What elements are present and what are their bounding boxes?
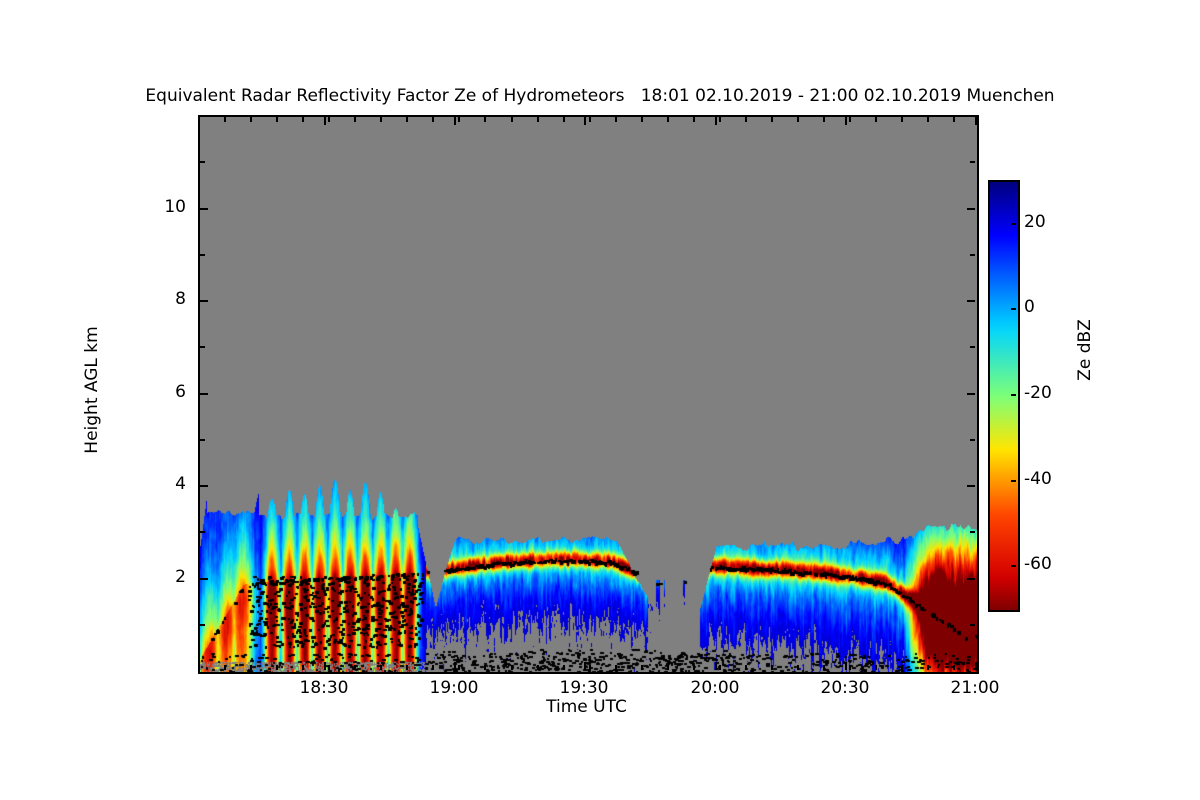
- x-axis-minor-tick-top: [198, 117, 200, 122]
- y-axis-tick-right: [967, 300, 975, 302]
- y-axis-minor-tick-right: [970, 346, 975, 348]
- y-axis-tick-right: [967, 208, 975, 210]
- x-axis-minor-tick-top: [589, 117, 591, 122]
- x-axis-tick-label: 21:00: [930, 680, 1020, 697]
- x-axis-minor-tick: [198, 665, 200, 670]
- y-axis-tick-label: 4: [146, 476, 186, 493]
- colorbar-gradient: [990, 182, 1018, 610]
- x-axis-tick-top: [845, 117, 847, 125]
- x-axis-tick: [715, 662, 717, 670]
- colorbar-label: Ze dBZ: [1075, 260, 1095, 440]
- x-axis-minor-tick-top: [797, 117, 799, 122]
- x-axis-minor-tick-top: [406, 117, 408, 122]
- x-axis-minor-tick-top: [380, 117, 382, 122]
- x-axis-minor-tick: [537, 665, 539, 670]
- x-axis-tick: [584, 662, 586, 670]
- x-axis-minor-tick-top: [458, 117, 460, 122]
- y-axis-tick-right: [967, 485, 975, 487]
- y-axis-tick-label: 6: [146, 384, 186, 401]
- x-axis-minor-tick-top: [927, 117, 929, 122]
- x-axis-tick: [454, 662, 456, 670]
- x-axis-minor-tick: [432, 665, 434, 670]
- colorbar-tick: [1011, 480, 1016, 482]
- x-axis-minor-tick: [771, 665, 773, 670]
- x-axis-tick-top: [584, 117, 586, 125]
- x-axis-minor-tick: [823, 665, 825, 670]
- x-axis-minor-tick: [693, 665, 695, 670]
- x-axis-minor-tick-top: [563, 117, 565, 122]
- colorbar-tick: [1011, 394, 1016, 396]
- x-axis-tick-label: 20:30: [800, 680, 890, 697]
- x-axis-minor-tick-top: [354, 117, 356, 122]
- y-axis-minor-tick: [200, 439, 205, 441]
- y-axis-minor-tick-right: [970, 531, 975, 533]
- x-axis-minor-tick: [901, 665, 903, 670]
- colorbar-tick-label: -60: [1024, 556, 1052, 573]
- colorbar-tick-label: 20: [1024, 214, 1046, 231]
- y-axis-minor-tick: [200, 624, 205, 626]
- x-axis-minor-tick: [875, 665, 877, 670]
- x-axis-tick-top: [324, 117, 326, 125]
- x-axis-minor-tick-top: [823, 117, 825, 122]
- colorbar-tick-label: 0: [1024, 299, 1035, 316]
- x-axis-minor-tick-top: [693, 117, 695, 122]
- x-axis-minor-tick: [719, 665, 721, 670]
- y-axis-tick: [200, 208, 208, 210]
- y-axis-minor-tick-right: [970, 161, 975, 163]
- x-axis-minor-tick-top: [641, 117, 643, 122]
- x-axis-minor-tick: [797, 665, 799, 670]
- x-axis-minor-tick: [328, 665, 330, 670]
- colorbar-tick-label: -20: [1024, 385, 1052, 402]
- x-axis-minor-tick: [563, 665, 565, 670]
- x-axis-tick-label: 19:30: [539, 680, 629, 697]
- x-axis-tick: [324, 662, 326, 670]
- y-axis-tick-label: 8: [146, 291, 186, 308]
- colorbar-tick: [1011, 223, 1016, 225]
- x-axis-minor-tick: [927, 665, 929, 670]
- x-axis-minor-tick-top: [484, 117, 486, 122]
- x-axis-minor-tick: [667, 665, 669, 670]
- x-axis-minor-tick-top: [771, 117, 773, 122]
- x-axis-minor-tick: [354, 665, 356, 670]
- x-axis-minor-tick-top: [276, 117, 278, 122]
- y-axis-tick-right: [967, 393, 975, 395]
- y-axis-minor-tick: [200, 161, 205, 163]
- y-axis-tick-label: 2: [146, 569, 186, 586]
- y-axis-minor-tick-right: [970, 624, 975, 626]
- page-title: Equivalent Radar Reflectivity Factor Ze …: [0, 86, 1200, 106]
- x-axis-minor-tick: [641, 665, 643, 670]
- reflectivity-heatmap-canvas: [200, 117, 977, 672]
- x-axis-minor-tick-top: [328, 117, 330, 122]
- x-axis-tick-label: 19:00: [409, 680, 499, 697]
- colorbar-tick: [1011, 308, 1016, 310]
- x-axis-tick: [975, 662, 977, 670]
- x-axis-tick-label: 20:00: [670, 680, 760, 697]
- x-axis-label: Time UTC: [198, 697, 975, 717]
- x-axis-minor-tick: [511, 665, 513, 670]
- y-axis-tick: [200, 300, 208, 302]
- x-axis-tick: [845, 662, 847, 670]
- x-axis-minor-tick: [302, 665, 304, 670]
- x-axis-minor-tick: [380, 665, 382, 670]
- x-axis-minor-tick-top: [250, 117, 252, 122]
- x-axis-minor-tick-top: [537, 117, 539, 122]
- x-axis-tick-top: [715, 117, 717, 125]
- y-axis-minor-tick: [200, 531, 205, 533]
- x-axis-minor-tick-top: [875, 117, 877, 122]
- x-axis-minor-tick: [250, 665, 252, 670]
- x-axis-minor-tick-top: [511, 117, 513, 122]
- x-axis-minor-tick-top: [432, 117, 434, 122]
- colorbar-tick: [1011, 565, 1016, 567]
- x-axis-minor-tick: [458, 665, 460, 670]
- x-axis-minor-tick: [745, 665, 747, 670]
- x-axis-minor-tick: [276, 665, 278, 670]
- x-axis-minor-tick-top: [719, 117, 721, 122]
- x-axis-minor-tick: [615, 665, 617, 670]
- x-axis-minor-tick: [406, 665, 408, 670]
- x-axis-minor-tick: [224, 665, 226, 670]
- x-axis-tick-top: [454, 117, 456, 125]
- x-axis-tick-label: 18:30: [279, 680, 369, 697]
- x-axis-minor-tick: [849, 665, 851, 670]
- x-axis-minor-tick-top: [953, 117, 955, 122]
- x-axis-minor-tick: [589, 665, 591, 670]
- x-axis-minor-tick-top: [745, 117, 747, 122]
- x-axis-tick-top: [975, 117, 977, 125]
- y-axis-tick-right: [967, 578, 975, 580]
- y-axis-tick: [200, 485, 208, 487]
- y-axis-label: Height AGL km: [82, 290, 102, 490]
- colorbar-tick-label: -40: [1024, 471, 1052, 488]
- y-axis-minor-tick: [200, 346, 205, 348]
- colorbar: [988, 180, 1020, 612]
- plot-area: [198, 115, 979, 674]
- x-axis-minor-tick: [484, 665, 486, 670]
- y-axis-minor-tick: [200, 254, 205, 256]
- y-axis-tick-label: 10: [146, 199, 186, 216]
- x-axis-minor-tick-top: [849, 117, 851, 122]
- x-axis-minor-tick-top: [615, 117, 617, 122]
- y-axis-minor-tick-right: [970, 254, 975, 256]
- x-axis-minor-tick-top: [667, 117, 669, 122]
- x-axis-minor-tick-top: [901, 117, 903, 122]
- y-axis-tick: [200, 578, 208, 580]
- x-axis-minor-tick: [953, 665, 955, 670]
- radar-reflectivity-figure: Equivalent Radar Reflectivity Factor Ze …: [0, 0, 1200, 800]
- y-axis-tick: [200, 393, 208, 395]
- y-axis-minor-tick-right: [970, 439, 975, 441]
- x-axis-minor-tick-top: [302, 117, 304, 122]
- x-axis-minor-tick-top: [224, 117, 226, 122]
